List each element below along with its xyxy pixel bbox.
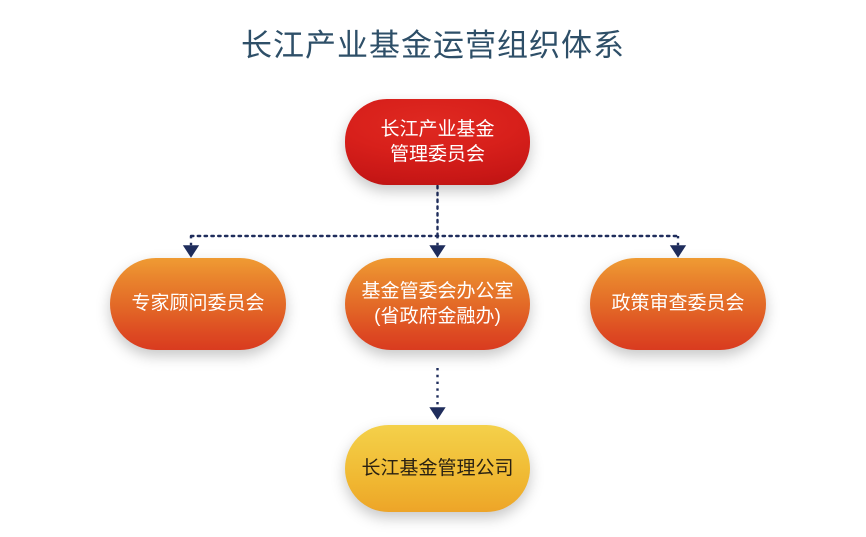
node-committee-office[interactable]: 基金管委会办公室 (省政府金融办) xyxy=(345,258,530,350)
node-fund-management-committee[interactable]: 长江产业基金 管理委员会 xyxy=(345,99,530,185)
node-label: 专家顾问委员会 xyxy=(123,291,272,316)
node-label: 长江产业基金 管理委员会 xyxy=(372,117,502,167)
organization-chart-canvas: 长江产业基金运营组织体系 长江产业基金 管理委员会 专家顾问委员会 基金管委会办… xyxy=(0,0,866,537)
page-title: 长江产业基金运营组织体系 xyxy=(0,20,866,65)
node-label: 政策审查委员会 xyxy=(603,291,752,316)
node-expert-advisory-committee[interactable]: 专家顾问委员会 xyxy=(110,258,286,350)
node-fund-management-company[interactable]: 长江基金管理公司 xyxy=(345,425,530,512)
node-policy-review-committee[interactable]: 政策审查委员会 xyxy=(590,258,766,350)
node-label: 基金管委会办公室 (省政府金融办) xyxy=(353,279,521,329)
node-label: 长江基金管理公司 xyxy=(353,456,521,481)
